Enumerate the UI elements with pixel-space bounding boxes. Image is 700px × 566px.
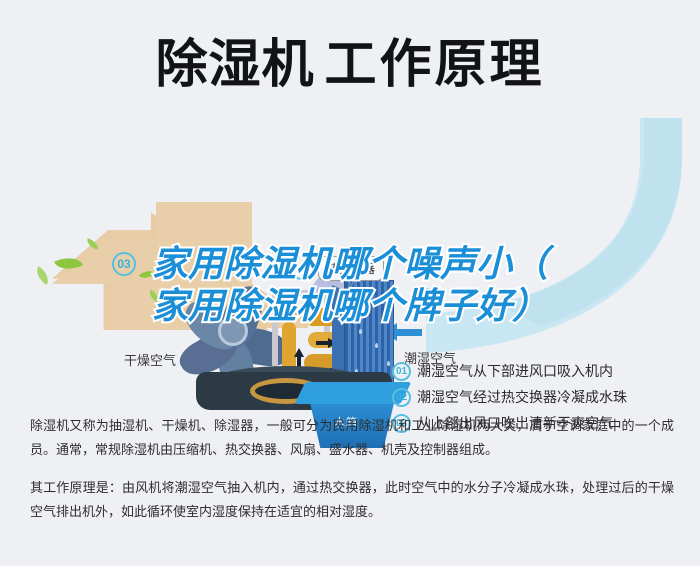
infographic-diagram: 水箱 热交换器 01 02 03 潮湿空气 干燥空气 01 潮湿空气从下部进风口… xyxy=(0,110,700,395)
step-text: 潮湿空气经过热交换器冷凝成水珠 xyxy=(417,387,627,407)
article-body: 除湿机又称为抽湿机、干燥机、除湿器，一般可分为民用除湿机和工业除湿机两大类，属于… xyxy=(30,414,674,524)
badge-01: 01 xyxy=(414,288,438,312)
step-text: 潮湿空气从下部进风口吸入机内 xyxy=(417,361,613,381)
water-droplet-icon xyxy=(387,361,390,366)
heat-exchanger-callout: 热交换器 xyxy=(318,256,384,281)
leaf-icon xyxy=(32,266,52,285)
dry-air-label: 干燥空气 xyxy=(124,350,176,369)
badge-03: 03 xyxy=(112,252,136,276)
copper-coil xyxy=(278,302,300,318)
step-number: 01 xyxy=(392,362,411,381)
water-droplet-icon xyxy=(353,293,356,298)
water-droplet-icon xyxy=(375,343,378,348)
air-inlet-arrow-tail-icon xyxy=(396,329,422,336)
fan-hub xyxy=(218,316,248,346)
body-paragraph-2: 其工作原理是：由风机将潮湿空气抽入机内，通过热交换器，此时空气中的水分子冷凝成水… xyxy=(30,476,674,524)
page-title: 除湿机工作原理 xyxy=(155,22,544,97)
title-part-2: 工作原理 xyxy=(325,36,545,94)
flow-arrow-up-icon xyxy=(294,348,304,357)
water-droplet-icon xyxy=(359,329,362,334)
badge-02: 02 xyxy=(290,256,314,280)
title-part-1: 除湿机 xyxy=(155,36,314,94)
page-header: 除湿机工作原理 xyxy=(0,0,700,118)
body-paragraph-1: 除湿机又称为抽湿机、干燥机、除湿器，一般可分为民用除湿机和工业除湿机两大类，属于… xyxy=(30,414,674,462)
step-number: 02 xyxy=(392,388,411,407)
water-droplet-icon xyxy=(381,299,384,304)
step-item: 02 潮湿空气经过热交换器冷凝成水珠 xyxy=(392,384,692,410)
step-item: 01 潮湿空气从下部进风口吸入机内 xyxy=(392,358,692,384)
water-droplet-icon xyxy=(367,309,370,314)
